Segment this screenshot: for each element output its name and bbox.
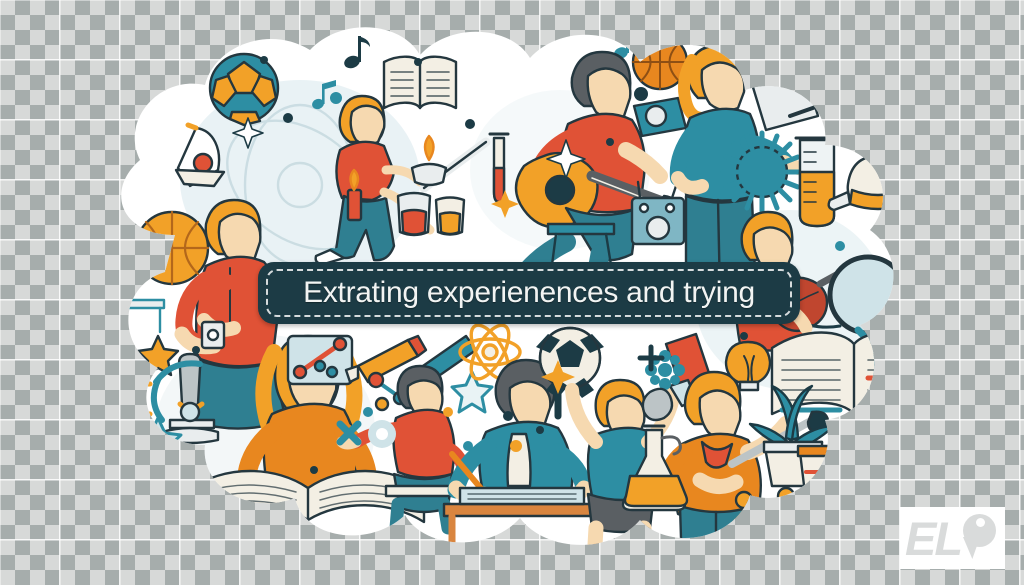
- person-dot-icon: [963, 514, 996, 547]
- socket-icon: [202, 322, 224, 348]
- watermark-badge: EL: [900, 507, 1005, 569]
- coffee-cup: [798, 446, 842, 502]
- camera-icon: [634, 98, 686, 136]
- dot: [634, 87, 648, 101]
- question-mark: [827, 104, 843, 138]
- molecule-card: [288, 336, 352, 384]
- title-banner[interactable]: Extrating experienences and trying: [258, 262, 800, 324]
- graduated-cylinder: [796, 138, 838, 226]
- virus-sphere: [723, 133, 801, 211]
- screenshot-canvas: Extrating experienences and trying EL: [0, 0, 1024, 585]
- banner-title-text: Extrating experienences and trying: [303, 276, 755, 310]
- candle: [348, 170, 361, 220]
- gear-hole: [376, 428, 388, 440]
- watermark-text: EL: [905, 515, 961, 562]
